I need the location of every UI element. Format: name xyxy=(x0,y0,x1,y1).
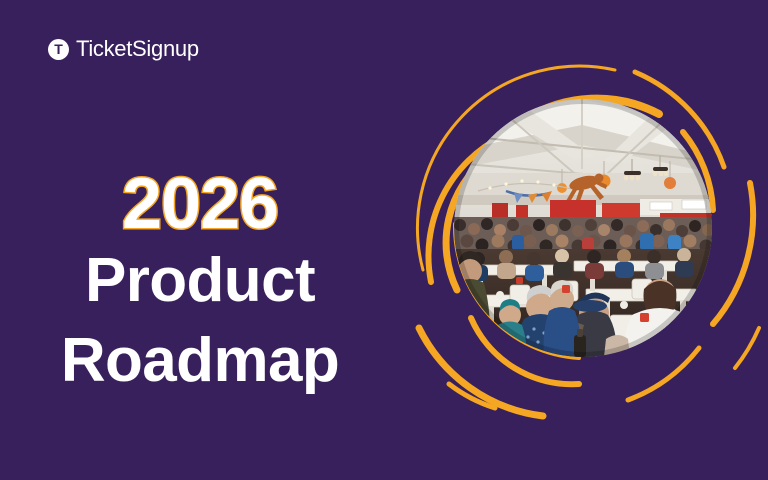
headline-year: 2026 xyxy=(0,168,400,241)
headline-line-roadmap: Roadmap xyxy=(0,321,400,400)
headline-line-product: Product xyxy=(0,241,400,320)
roadmap-title-slide: T TicketSignup 2026 Product Roadmap xyxy=(0,0,768,480)
logo-badge-letter: T xyxy=(54,42,63,56)
logo-wordmark: TicketSignup xyxy=(76,38,199,60)
ticketsignup-logo[interactable]: T TicketSignup xyxy=(48,34,199,64)
slide-headline: 2026 Product Roadmap xyxy=(0,168,400,400)
event-photo-medallion xyxy=(454,99,712,357)
ticketsignup-badge-icon: T xyxy=(48,39,69,60)
